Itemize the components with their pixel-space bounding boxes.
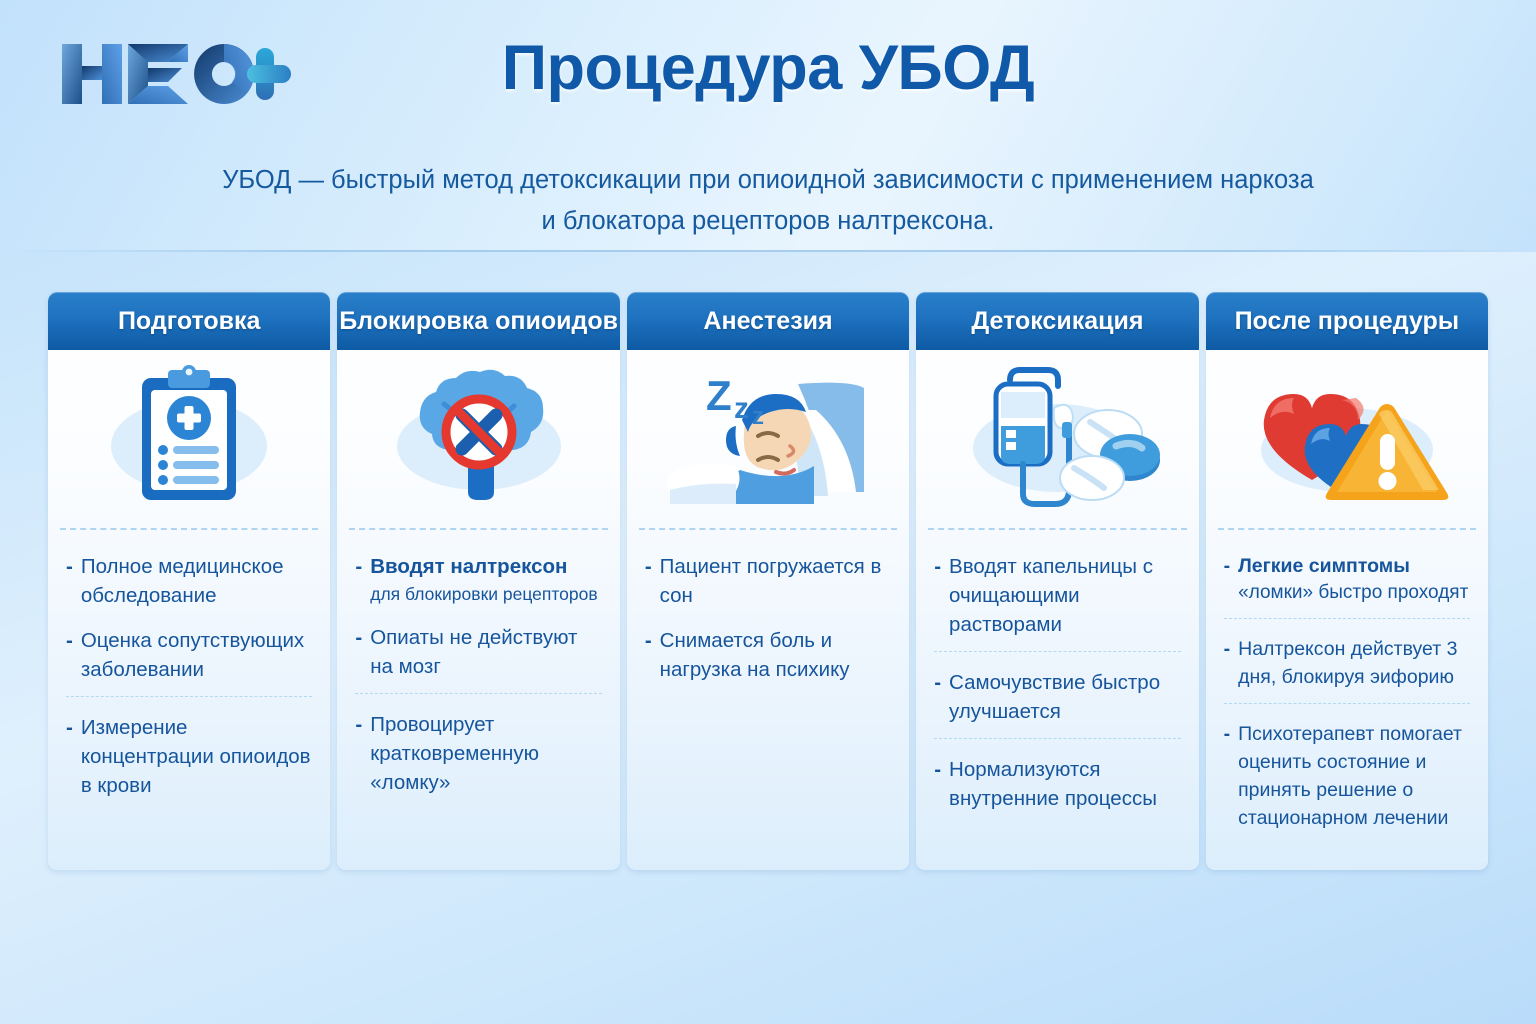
bullet-dash: - xyxy=(1224,635,1231,691)
bullet-item: - Налтрексон действует 3 дня, блокируя э… xyxy=(1224,635,1470,691)
header-divider xyxy=(0,250,1536,252)
step-card-header: Блокировка опиоидов xyxy=(337,292,619,350)
bullet-item: - Нормализуются внутренние процессы xyxy=(934,755,1180,813)
bullet-dash: - xyxy=(645,626,652,684)
step-card-opioid-block[interactable]: Блокировка опиоидов - Вводят на xyxy=(337,292,619,870)
bullet-item: - Вводят капельницы с очищающими раствор… xyxy=(934,552,1180,639)
bullet-subtext: для блокировки рецепторов xyxy=(370,581,602,607)
bullet-text: Самочувствие быстро улучшается xyxy=(949,668,1181,726)
hearts-warning-icon xyxy=(1206,350,1488,528)
svg-text:z: z xyxy=(752,403,764,430)
bullet-text: Нормализуются внутренние процессы xyxy=(949,755,1181,813)
bullet-dash: - xyxy=(66,552,73,610)
sleeping-patient-icon: Z z z xyxy=(627,350,909,528)
step-card-bullets: - Вводят капельницы с очищающими раствор… xyxy=(916,530,1198,870)
bullet-text: Провоцирует кратковременную «ломку» xyxy=(370,710,602,797)
step-card-bullets: - Вводят налтрексон для блокировки рецеп… xyxy=(337,530,619,870)
step-card-header: Анестезия xyxy=(627,292,909,350)
bullet-dash: - xyxy=(1224,720,1231,832)
iv-drip-pills-icon xyxy=(916,350,1198,528)
page-title: Процедура УБОД xyxy=(0,32,1536,104)
bullet-dash: - xyxy=(934,668,941,726)
bullet-text: Вводят налтрексон для блокировки рецепто… xyxy=(370,552,602,607)
step-card-title: После процедуры xyxy=(1235,307,1460,336)
bullet-item: - Пациент погружается в сон xyxy=(645,552,891,610)
step-card-bullets: - Полное медицинское обследование - Оцен… xyxy=(48,530,330,870)
clipboard-medical-icon xyxy=(48,350,330,528)
page-subtitle: УБОД — быстрый метод детоксикации при оп… xyxy=(168,160,1368,242)
bullet-dash: - xyxy=(934,552,941,639)
bullet-text: Оценка сопутствующих заболевании xyxy=(81,626,313,684)
bullet-item: - Измерение концентрации опиоидов в кров… xyxy=(66,713,312,800)
step-card-preparation[interactable]: Подготовка xyxy=(48,292,330,870)
bullet-text: Психотерапевт помогает оценить состояние… xyxy=(1238,720,1470,832)
bullet-dash: - xyxy=(934,755,941,813)
zzz-label: Z xyxy=(706,372,732,419)
bullet-text: Пациент погружается в сон xyxy=(660,552,892,610)
bullet-dash: - xyxy=(355,552,362,607)
bullet-dash: - xyxy=(355,623,362,681)
bullet-item: - Психотерапевт помогает оценить состоян… xyxy=(1224,720,1470,832)
bullet-dash: - xyxy=(355,710,362,797)
step-card-title: Детоксикация xyxy=(971,307,1143,336)
step-card-title: Подготовка xyxy=(118,307,260,336)
bullet-dash: - xyxy=(66,713,73,800)
subtitle-line-2: и блокатора рецепторов налтрексона. xyxy=(168,201,1368,242)
step-card-bullets: - Легкие симптомы «ломки» быстро проходя… xyxy=(1206,530,1488,870)
step-card-bullets: - Пациент погружается в сон - Снимается … xyxy=(627,530,909,870)
step-card-detox[interactable]: Детоксикация xyxy=(916,292,1198,870)
brain-blocked-icon xyxy=(337,350,619,528)
bullet-item: - Провоцирует кратковременную «ломку» xyxy=(355,710,601,797)
bullet-text: Легкие симптомы «ломки» быстро проходят xyxy=(1238,552,1470,606)
step-card-title: Блокировка опиоидов xyxy=(339,307,618,336)
bullet-item: - Легкие симптомы «ломки» быстро проходя… xyxy=(1224,552,1470,606)
bullet-text: Налтрексон действует 3 дня, блокируя эиф… xyxy=(1238,635,1470,691)
subtitle-line-1: УБОД — быстрый метод детоксикации при оп… xyxy=(168,160,1368,201)
step-card-header: Детоксикация xyxy=(916,292,1198,350)
bullet-text: Снимается боль и нагрузка на психику xyxy=(660,626,892,684)
bullet-main: Вводят налтрексон xyxy=(370,555,567,578)
bullet-item: - Снимается боль и нагрузка на психику xyxy=(645,626,891,684)
step-card-aftercare[interactable]: После процедуры - xyxy=(1206,292,1488,870)
bullet-dash: - xyxy=(645,552,652,610)
svg-text:z: z xyxy=(734,392,749,425)
bullet-dash: - xyxy=(1224,552,1231,606)
bullet-text: Опиаты не действуют на мозг xyxy=(370,623,602,681)
bullet-item: - Вводят налтрексон для блокировки рецеп… xyxy=(355,552,601,607)
bullet-item: - Самочувствие быстро улучшается xyxy=(934,668,1180,726)
bullet-item: - Оценка сопутствующих заболевании xyxy=(66,626,312,684)
bullet-subtext: «ломки» быстро проходят xyxy=(1238,580,1470,606)
step-card-header: Подготовка xyxy=(48,292,330,350)
bullet-text: Вводят капельницы с очищающими растворам… xyxy=(949,552,1181,639)
bullet-dash: - xyxy=(66,626,73,684)
bullet-item: - Полное медицинское обследование xyxy=(66,552,312,610)
bullet-text: Полное медицинское обследование xyxy=(81,552,313,610)
steps-card-grid: Подготовка xyxy=(48,292,1488,870)
step-card-title: Анестезия xyxy=(703,307,832,336)
bullet-item: - Опиаты не действуют на мозг xyxy=(355,623,601,681)
bullet-text: Измерение концентрации опиоидов в крови xyxy=(81,713,313,800)
bullet-main: Легкие симптомы xyxy=(1238,555,1410,577)
step-card-anesthesia[interactable]: Анестезия Z z z xyxy=(627,292,909,870)
step-card-header: После процедуры xyxy=(1206,292,1488,350)
